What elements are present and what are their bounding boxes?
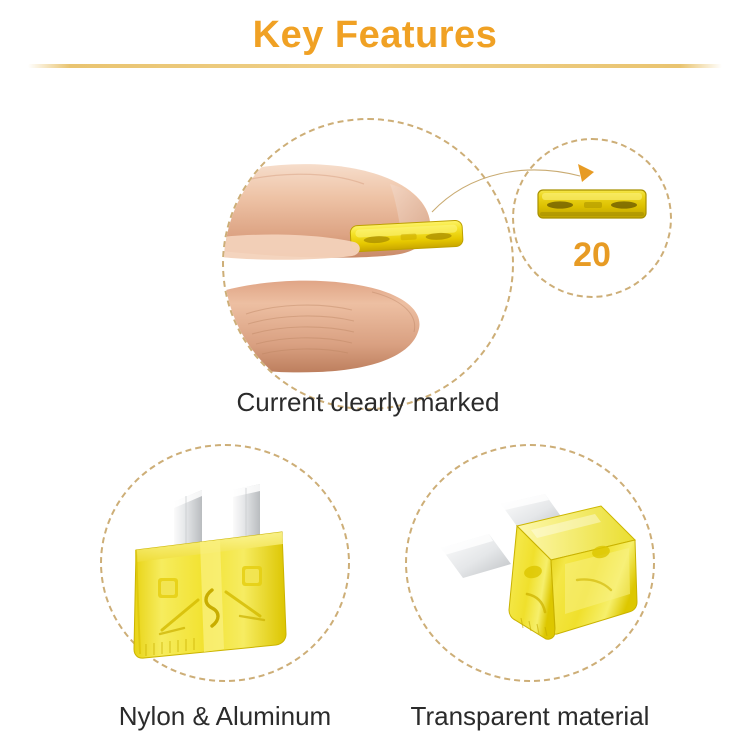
title-divider	[28, 64, 722, 68]
fuse-rating-label: 20	[512, 236, 672, 274]
feature-callout-circle-zoom	[512, 138, 672, 298]
feature-circle-current-marked	[222, 118, 514, 410]
feature-caption-current-marked: Current clearly marked	[222, 386, 514, 418]
infographic-page: Key Features	[0, 0, 750, 750]
feature-circle-nylon-aluminum	[100, 444, 350, 682]
feature-circle-transparent-material	[405, 444, 655, 682]
page-title: Key Features	[0, 12, 750, 58]
feature-caption-transparent-material: Transparent material	[380, 700, 680, 732]
feature-caption-nylon-aluminum: Nylon & Aluminum	[75, 700, 375, 732]
